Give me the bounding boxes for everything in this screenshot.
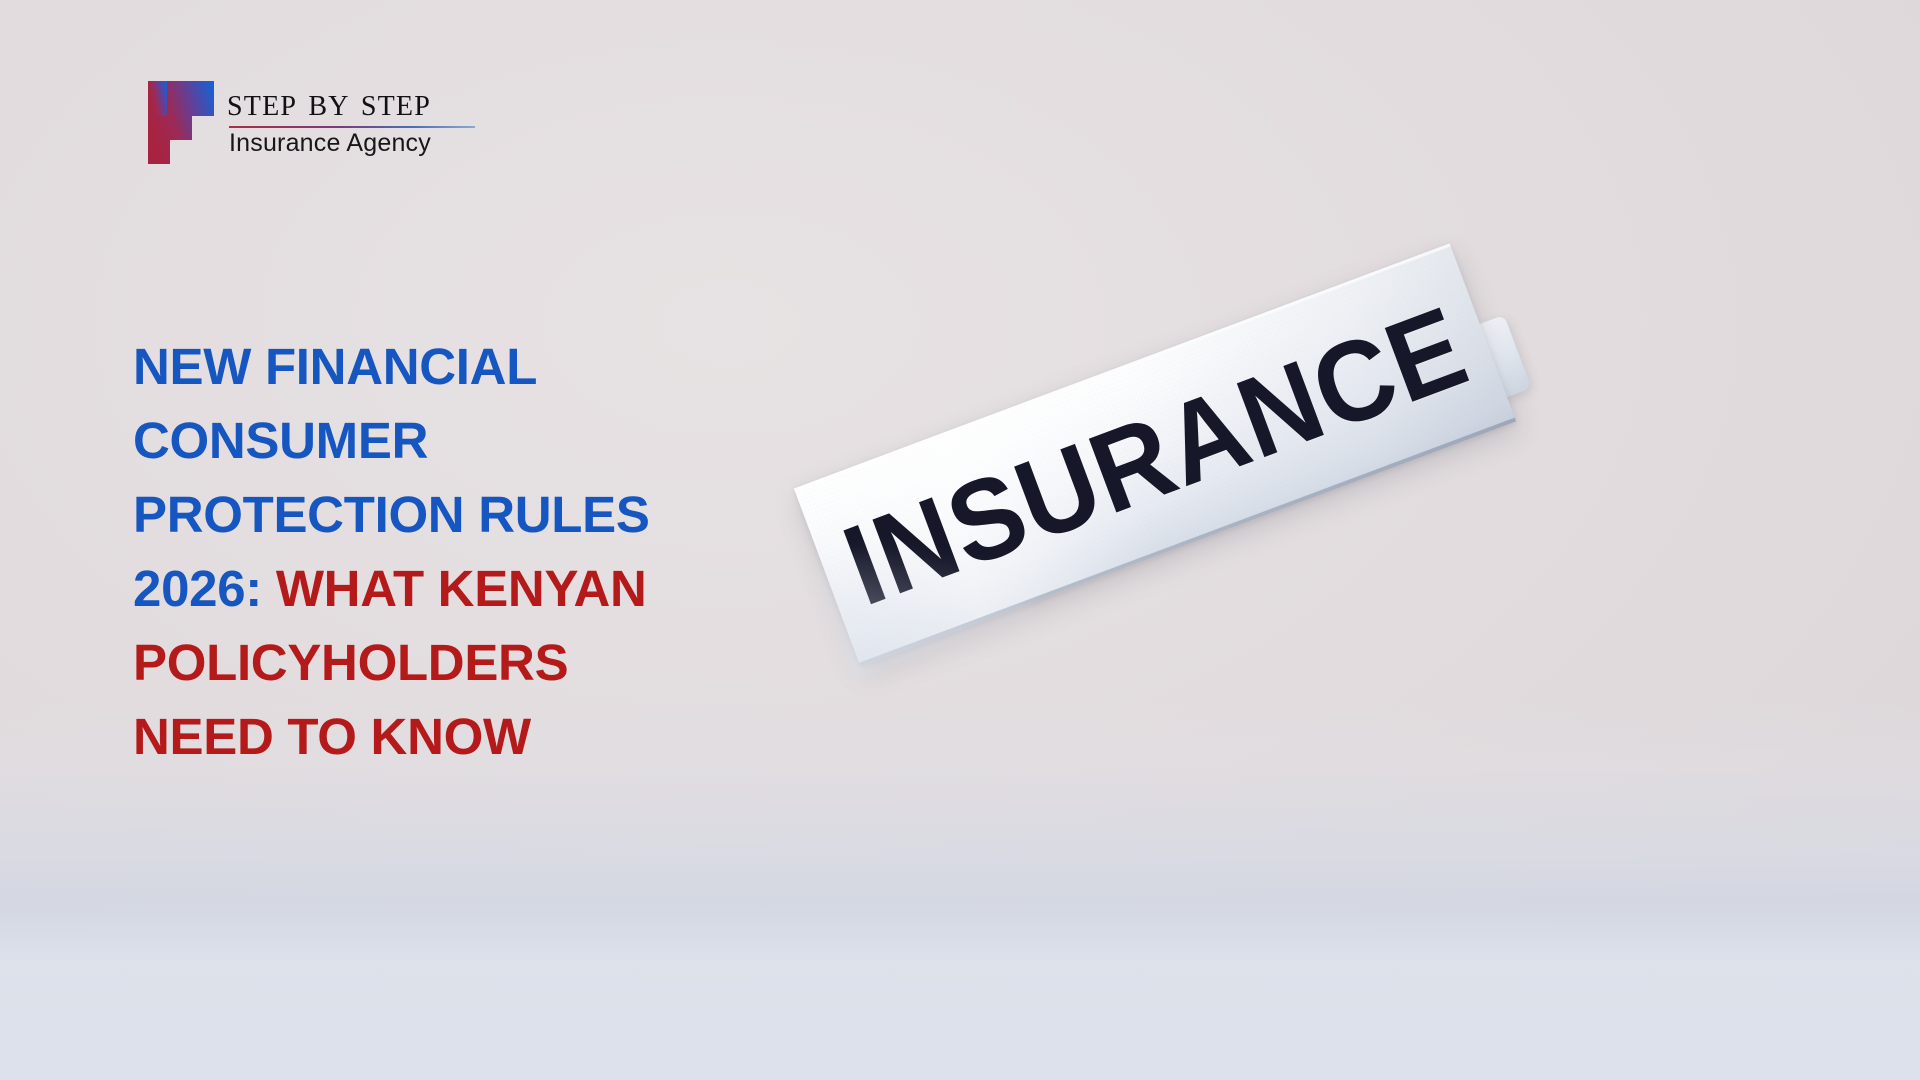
headline-line-2: CONSUMER	[133, 404, 833, 478]
headline-line-6: NEED TO KNOW	[133, 700, 833, 774]
logo-tagline: Insurance Agency	[227, 130, 475, 157]
logo-text-block: Step By Step Insurance Agency	[227, 78, 475, 157]
page-title: NEW FINANCIAL CONSUMER PROTECTION RULES …	[133, 330, 833, 774]
headline-line-4-red: WHAT KENYAN	[276, 560, 647, 617]
headline-year: 2026:	[133, 560, 262, 617]
step-by-step-gradient-arrow-icon	[145, 78, 217, 164]
logo-wordmark: Step By Step	[227, 82, 475, 122]
insurance-card: INSURANCE	[794, 243, 1516, 666]
insurance-card-face: INSURANCE	[794, 243, 1516, 666]
background-bottom-sheen	[0, 900, 1920, 1080]
logo-divider-rule	[229, 126, 475, 128]
brand-logo[interactable]: Step By Step Insurance Agency	[145, 78, 475, 170]
insurance-paper-strip-photo: INSURANCE	[770, 245, 1570, 745]
headline-line-3: PROTECTION RULES	[133, 478, 833, 552]
headline-line-4: 2026: WHAT KENYAN	[133, 552, 833, 626]
headline-line-1: NEW FINANCIAL	[133, 330, 833, 404]
banner-canvas: Step By Step Insurance Agency NEW FINANC…	[0, 0, 1920, 1080]
headline-line-5: POLICYHOLDERS	[133, 626, 833, 700]
